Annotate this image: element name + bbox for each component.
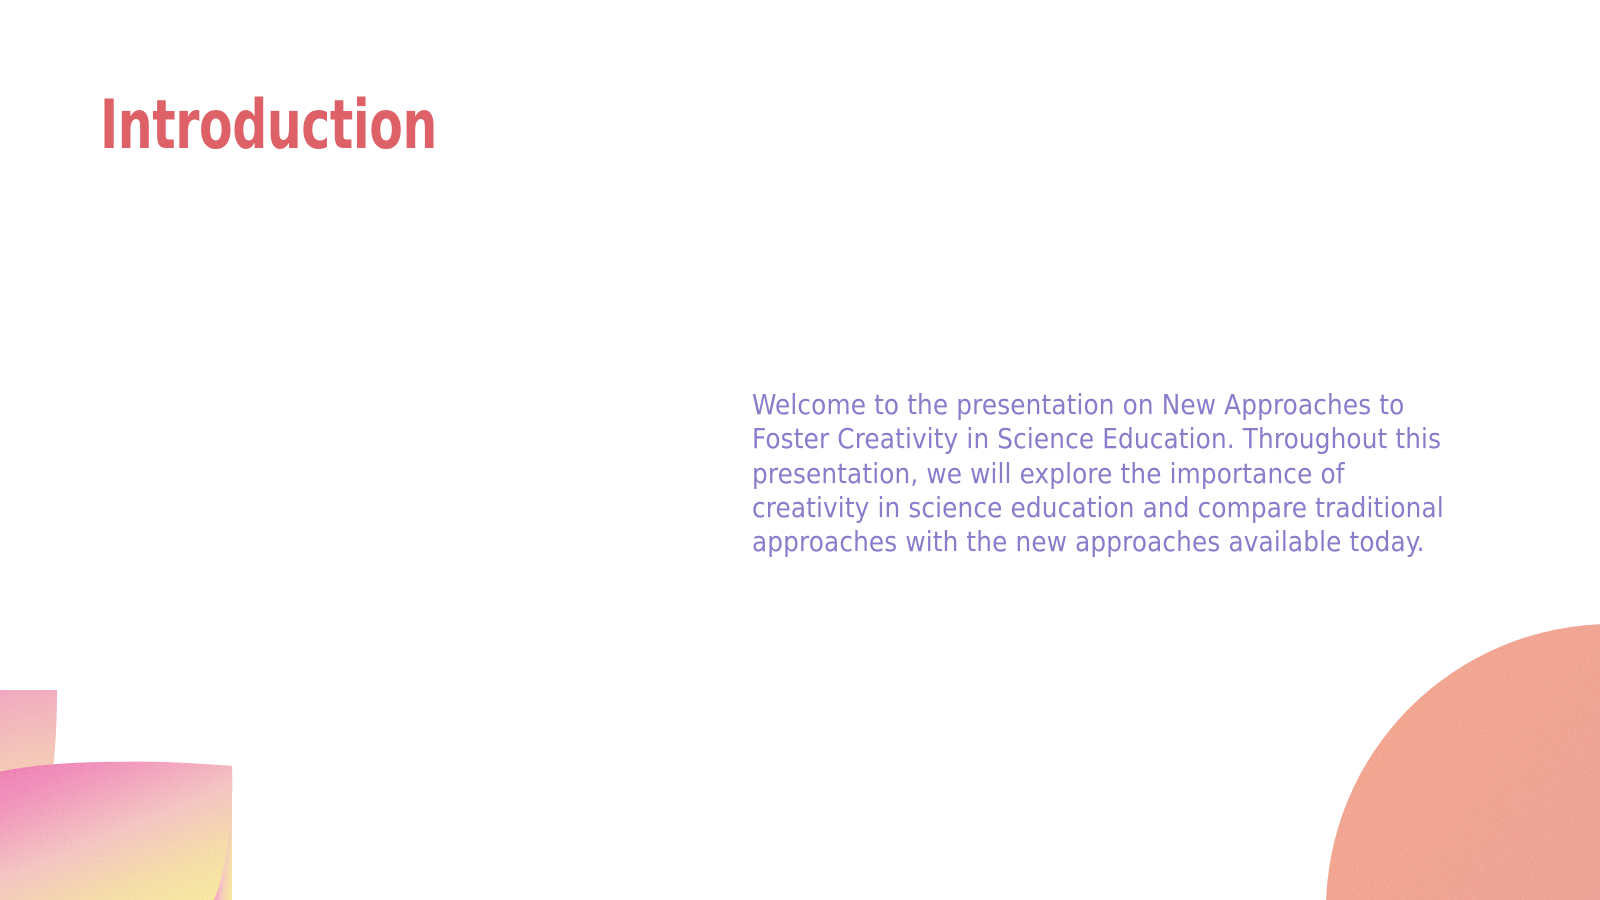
- petal-shape-large-body: [0, 762, 232, 900]
- petal-shape-small-body: [0, 690, 57, 900]
- page-title: Introduction: [100, 88, 437, 164]
- circle-shape: [1326, 624, 1600, 900]
- presentation-slide: Introduction Welcome to the presentation…: [0, 0, 1600, 900]
- petal-shape-large: [0, 762, 232, 900]
- introduction-paragraph: Welcome to the presentation on New Appro…: [752, 388, 1452, 559]
- title-block: Introduction: [100, 88, 521, 164]
- body-text-block: Welcome to the presentation on New Appro…: [752, 388, 1452, 559]
- petal-shape-small: [0, 690, 56, 900]
